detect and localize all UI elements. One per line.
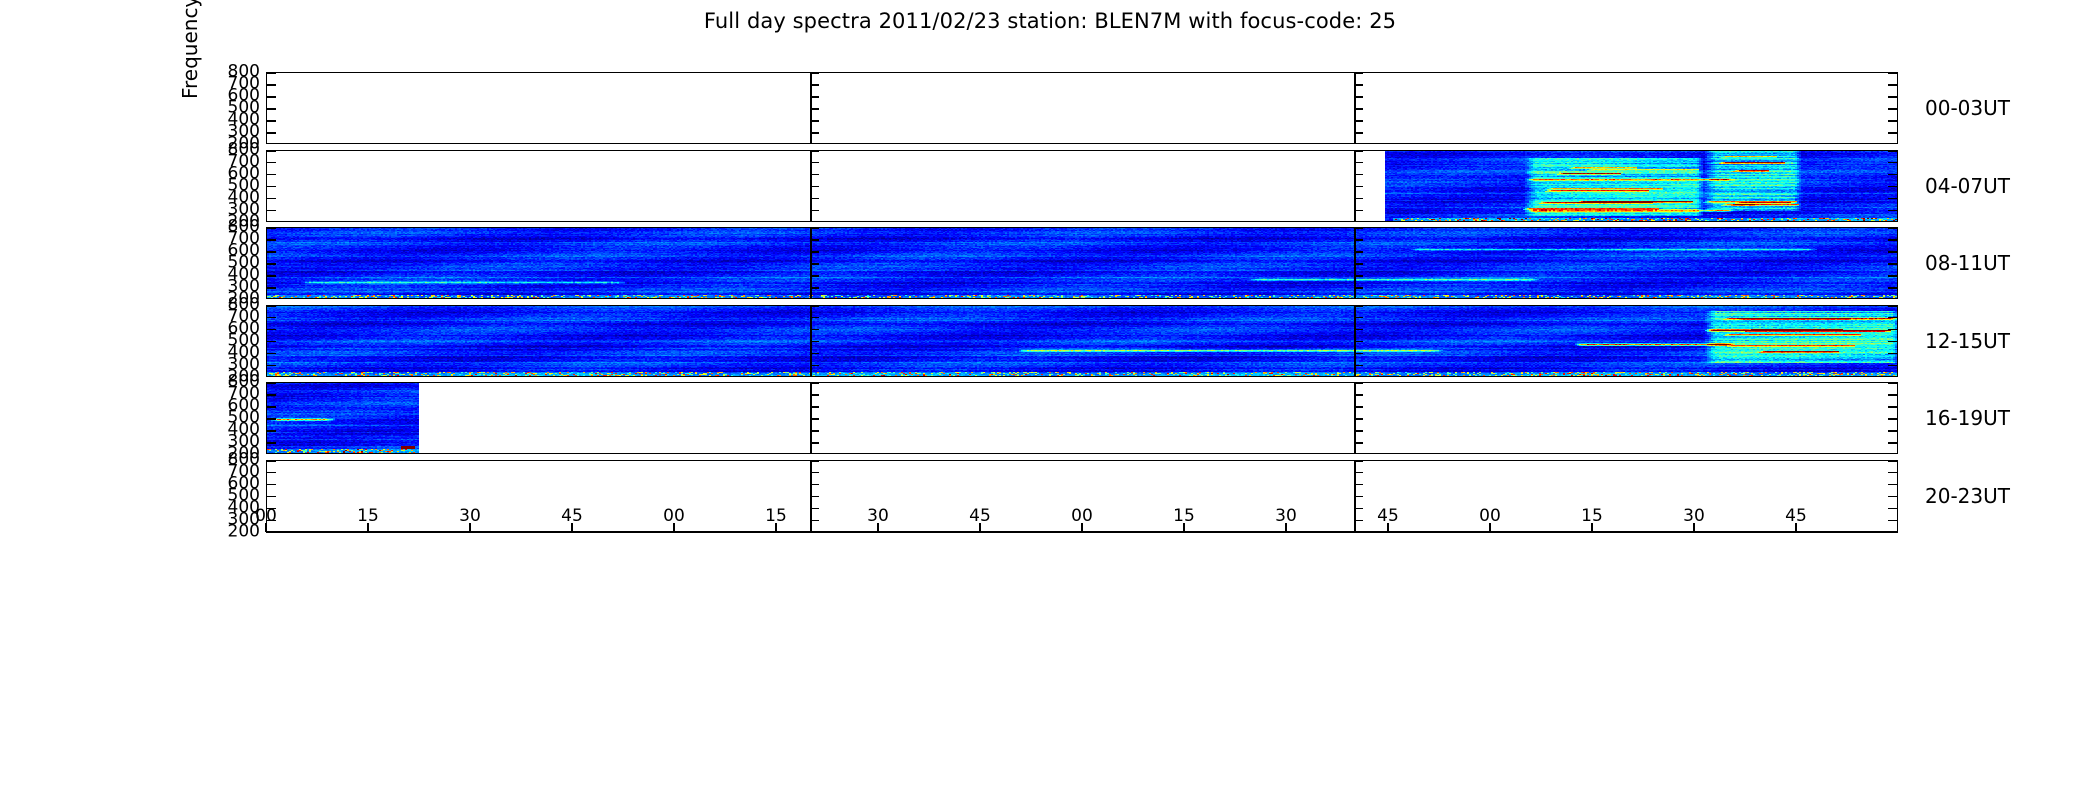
y-axis-tick [1354,508,1363,509]
y-axis-tick [267,96,276,97]
y-axis-tick [810,353,819,354]
y-axis-tick [810,508,819,509]
y-axis-tick [1888,520,1897,521]
y-axis-tick [267,406,276,407]
y-axis-tick [1354,484,1363,485]
y-axis-tick [1354,520,1363,521]
y-axis-tick [1354,239,1363,240]
y-axis-tick [810,210,819,211]
y-axis-ticklabels: 800700600500400300200 [202,382,260,454]
y-axis-tick [1354,365,1363,366]
y-axis-tick [1888,198,1897,199]
y-axis-tick [1888,418,1897,419]
y-axis-tick [1354,317,1363,318]
y-axis-tick [810,108,819,109]
y-axis-tick [267,484,276,485]
y-axis-tick [1888,394,1897,395]
y-axis-tick [1354,418,1363,419]
y-axis-tick [1888,353,1897,354]
y-axis-tick [267,108,276,109]
y-axis-tick [1354,341,1363,342]
y-axis-tick [1888,383,1897,384]
y-axis-tick [1888,210,1897,211]
y-axis-tick [1888,84,1897,85]
y-axis-tick [267,275,276,276]
panel-time-label: 00-03UT [1925,96,2010,120]
y-axis-tick [267,84,276,85]
panel-time-label: 16-19UT [1925,406,2010,430]
y-axis-tick [1354,329,1363,330]
y-axis-tick [1354,84,1363,85]
x-axis-ticklabel: 00 [663,506,685,526]
y-axis-tick [810,383,819,384]
y-axis-tick [810,430,819,431]
y-axis-tick [267,472,276,473]
y-axis-tick [1888,306,1897,307]
y-axis-tick [267,228,276,229]
y-axis-tick [267,383,276,384]
y-axis-tick [810,151,819,152]
y-axis-tick [1888,287,1897,288]
y-axis-tick [810,442,819,443]
y-axis-tick [1888,472,1897,473]
y-axis-tick [267,120,276,121]
y-axis-tick [1888,484,1897,485]
y-axis-tick [1354,406,1363,407]
spectrogram-image [267,383,1898,454]
y-axis-tick [1354,496,1363,497]
y-axis-tick [810,198,819,199]
y-axis-tick [1354,353,1363,354]
y-axis-tick [1354,306,1363,307]
y-axis-tick [1888,341,1897,342]
x-axis-line [266,532,1898,534]
x-axis: 00153045001530450015304500153045 [266,532,1898,533]
y-axis-tick [1354,174,1363,175]
y-axis-ticklabels: 800700600500400300200 [202,460,260,532]
y-axis-tick [810,287,819,288]
y-axis-tick [267,251,276,252]
y-axis-tick [1354,394,1363,395]
y-axis-tick [1354,210,1363,211]
y-axis-tick [267,287,276,288]
y-axis-ticklabels: 800700600500400300200 [202,305,260,377]
y-axis-tick [267,306,276,307]
y-axis-tick [810,132,819,133]
y-axis-tick [1354,383,1363,384]
panel-time-label: 12-15UT [1925,329,2010,353]
y-axis-tick [1888,275,1897,276]
y-axis-tick [1354,162,1363,163]
y-axis-tick [1888,263,1897,264]
y-axis-tick [267,329,276,330]
y-axis-tick [810,263,819,264]
y-axis-tick [1354,251,1363,252]
y-axis-tick [810,84,819,85]
y-axis-tick [1888,251,1897,252]
y-axis-tick [1888,96,1897,97]
y-axis-tick [1888,151,1897,152]
y-axis-tick [1888,329,1897,330]
y-axis-tick [1888,186,1897,187]
y-axis-tick [267,239,276,240]
y-axis-tick [1354,228,1363,229]
y-axis-tick [810,186,819,187]
y-axis-tick [810,329,819,330]
y-axis-tick [1888,108,1897,109]
x-axis-ticklabel: 30 [867,506,889,526]
y-axis-tick [267,210,276,211]
y-axis-tick [1354,186,1363,187]
y-axis-tick [1888,496,1897,497]
y-axis-tick [1354,198,1363,199]
x-axis-ticklabel: 15 [1581,506,1603,526]
spectrogram-panel-16-19ut [266,382,1898,454]
x-axis-ticklabel: 45 [1377,506,1399,526]
y-axis-tick [1354,275,1363,276]
x-axis-ticklabel: 00 [1071,506,1093,526]
y-axis-tick [1888,162,1897,163]
y-axis-tick [267,151,276,152]
y-axis-tick [1354,472,1363,473]
y-axis-tick [810,174,819,175]
y-axis-tick [267,418,276,419]
x-axis-ticklabel: 30 [1275,506,1297,526]
y-axis-tick [267,430,276,431]
y-axis-ticklabels: 800700600500400300200 [202,227,260,299]
x-axis-ticklabel: 45 [969,506,991,526]
y-axis-tick [1354,461,1363,462]
y-axis-tick [267,174,276,175]
y-axis-tick [810,239,819,240]
y-axis-tick [267,365,276,366]
panel-time-label: 04-07UT [1925,174,2010,198]
y-axis-tick [810,306,819,307]
y-axis-tick [267,341,276,342]
x-axis-ticklabel: 00 [1479,506,1501,526]
y-axis-tick [267,73,276,74]
x-axis-ticklabel: 45 [1785,506,1807,526]
y-axis-tick [1888,317,1897,318]
y-axis-tick [1354,430,1363,431]
y-axis-tick [1354,132,1363,133]
y-axis-tick [267,132,276,133]
y-axis-tick [267,263,276,264]
y-axis-tick [810,275,819,276]
y-axis-tick [810,484,819,485]
y-axis-tick [267,198,276,199]
spectrogram-image [267,228,1898,299]
y-axis-tick [810,496,819,497]
spectrogram-image [267,151,1898,222]
y-axis-tick [1888,174,1897,175]
y-axis-tick [1888,73,1897,74]
y-axis-ticklabel: 200 [228,523,260,540]
x-axis-ticklabel: 30 [1683,506,1705,526]
y-axis-tick [1888,120,1897,121]
y-axis-tick [1888,406,1897,407]
y-axis-tick [267,442,276,443]
x-axis-ticklabel: 15 [765,506,787,526]
y-axis-tick [810,162,819,163]
y-axis-tick [267,394,276,395]
y-axis-tick [267,461,276,462]
panel-time-label: 20-23UT [1925,484,2010,508]
y-axis-tick [1354,108,1363,109]
spectrogram-image [267,306,1898,377]
y-axis-tick [1888,228,1897,229]
y-axis-tick [810,461,819,462]
y-axis-tick [810,341,819,342]
x-axis-ticklabel: 15 [1173,506,1195,526]
y-axis-ticklabels: 800700600500400300200 [202,150,260,222]
spectrogram-panel-04-07ut [266,150,1898,222]
y-axis-tick [267,162,276,163]
y-axis-tick [810,394,819,395]
y-axis-tick [267,496,276,497]
x-axis-ticklabel: 15 [357,506,379,526]
y-axis-tick [1354,442,1363,443]
y-axis-tick [1354,96,1363,97]
y-axis-tick [1354,151,1363,152]
y-axis-tick [1888,365,1897,366]
y-axis-tick [810,251,819,252]
y-axis-tick [1354,120,1363,121]
y-axis-tick [1354,73,1363,74]
y-axis-label: Frequency [MHz] [178,0,202,180]
page-title: Full day spectra 2011/02/23 station: BLE… [0,9,2100,33]
y-axis-tick [1888,508,1897,509]
panel-time-label: 08-11UT [1925,251,2010,275]
y-axis-tick [1354,263,1363,264]
y-axis-tick [1888,132,1897,133]
y-axis-tick [1888,430,1897,431]
y-axis-tick [810,73,819,74]
y-axis-tick [810,228,819,229]
spectrogram-panel-12-15ut [266,305,1898,377]
y-axis-tick [810,317,819,318]
y-axis-tick [810,120,819,121]
y-axis-tick [1354,287,1363,288]
y-axis-tick [810,365,819,366]
y-axis-tick [810,406,819,407]
x-axis-ticklabel: 30 [459,506,481,526]
spectrogram-figure: Full day spectra 2011/02/23 station: BLE… [0,0,2100,800]
x-axis-ticklabel: 45 [561,506,583,526]
y-axis-tick [810,418,819,419]
spectrogram-panel-08-11ut [266,227,1898,299]
y-axis-tick [810,520,819,521]
y-axis-ticklabels: 800700600500400300200 [202,72,260,144]
y-axis-tick [267,186,276,187]
spectrogram-panel-00-03ut [266,72,1898,144]
y-axis-tick [267,317,276,318]
y-axis-tick [267,353,276,354]
y-axis-tick [810,472,819,473]
y-axis-tick [810,96,819,97]
y-axis-tick [1888,442,1897,443]
y-axis-tick [1888,239,1897,240]
y-axis-tick [1888,461,1897,462]
